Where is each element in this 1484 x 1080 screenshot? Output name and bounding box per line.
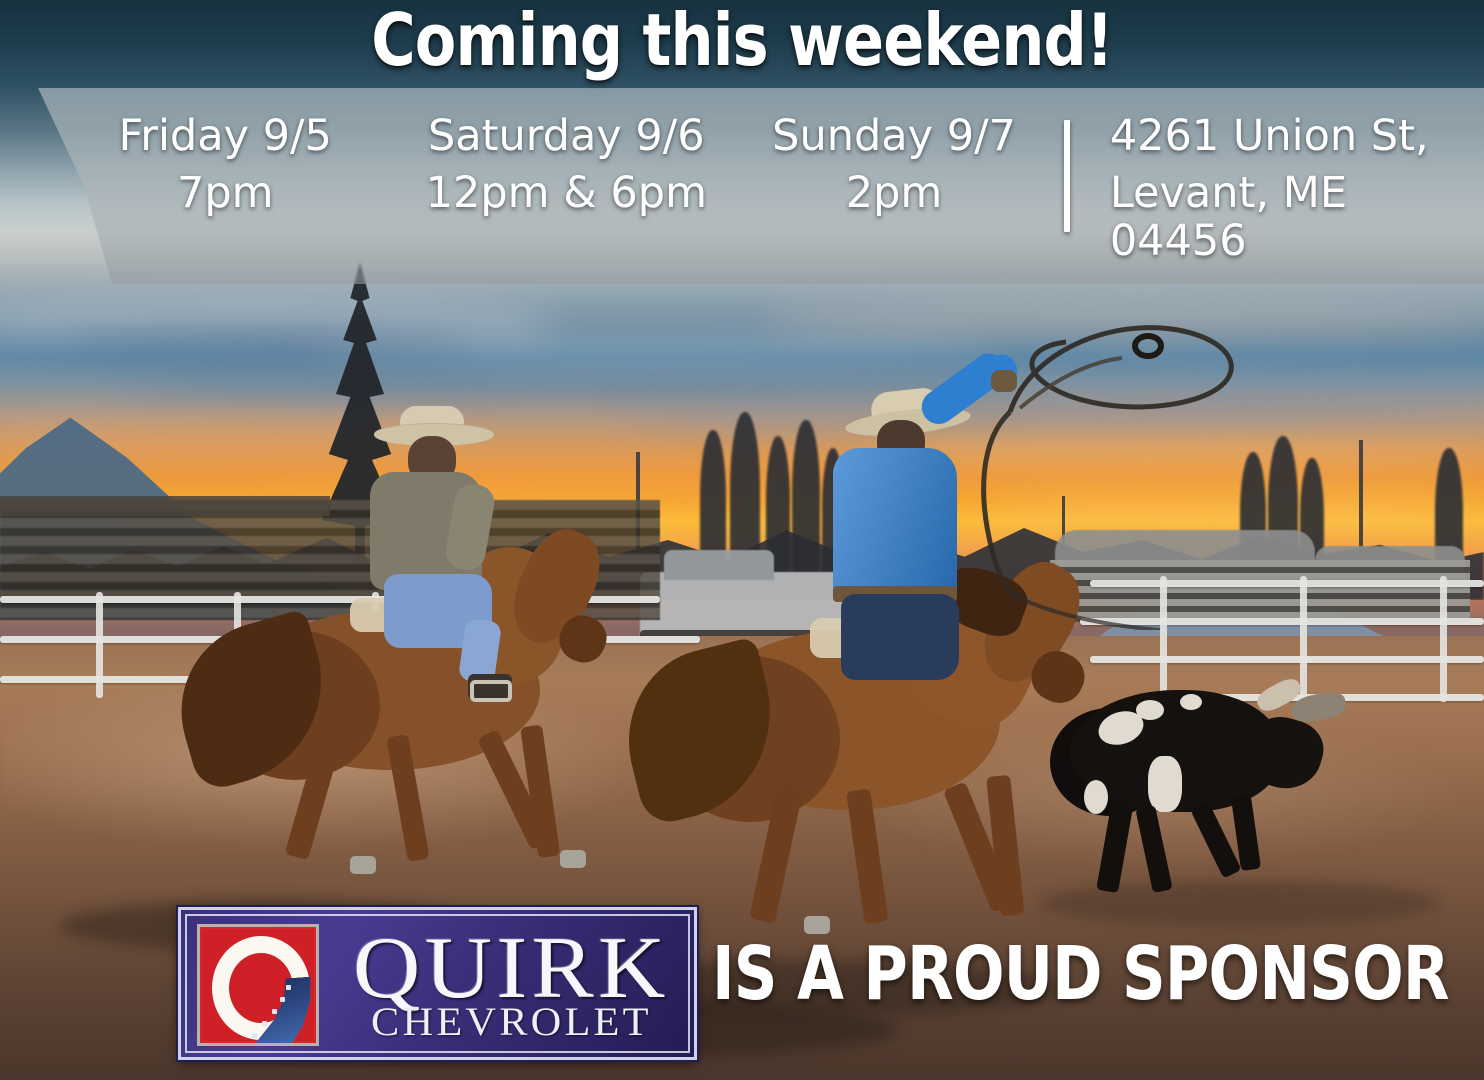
sponsor-tagline: IS A PROUD SPONSOR: [712, 931, 1449, 1017]
rider-right-roper: [815, 390, 1055, 680]
rider-shirt: [833, 448, 957, 598]
schedule-item-friday: Friday 9/5 7pm: [66, 112, 385, 217]
calf-white-patch: [1148, 756, 1182, 812]
schedule-day-label: Sunday 9/7: [754, 112, 1034, 160]
sponsor-row: QUIRK CHEVROLET IS A PROUD SPONSOR: [0, 895, 1484, 1080]
poplar-tree: [700, 430, 726, 570]
road-dash: [262, 1021, 267, 1026]
stirrup: [470, 680, 512, 702]
poplar-tree: [730, 412, 760, 572]
promo-poster: Coming this weekend! Friday 9/5 7pm Satu…: [0, 0, 1484, 1080]
arena-fence-post: [96, 592, 103, 698]
arena-fence-rail: [1090, 580, 1484, 587]
road-dash: [272, 1009, 277, 1014]
logo-brand-text: QUIRK: [353, 930, 670, 1007]
arena-fence-post: [1440, 576, 1447, 702]
horse-hoof: [350, 856, 376, 874]
schedule-time-label: 2pm: [754, 169, 1034, 217]
road-dash: [280, 997, 285, 1002]
rider-glove: [991, 370, 1017, 392]
grandstand-rail: [0, 496, 330, 516]
venue-address: 4261 Union St, Levant, ME 04456: [1110, 112, 1484, 265]
rider-left: [340, 424, 530, 654]
schedule-time-label: 7pm: [66, 169, 385, 217]
calf-white-patch: [1180, 694, 1202, 710]
calf-white-patch: [1084, 780, 1108, 814]
calf-leg: [1135, 805, 1172, 893]
rider-jeans: [841, 594, 959, 680]
roping-calf: [1040, 660, 1340, 900]
arena-fence-rail: [1080, 618, 1484, 625]
address-line-1: 4261 Union St,: [1110, 112, 1484, 160]
stock-trailer: [1050, 560, 1470, 622]
page-title: Coming this weekend!: [119, 4, 1366, 76]
quirk-chevrolet-logo[interactable]: QUIRK CHEVROLET: [178, 907, 697, 1060]
schedule-item-saturday: Saturday 9/6 12pm & 6pm: [393, 112, 741, 217]
road-dash: [286, 985, 291, 990]
schedule-day-label: Friday 9/5: [66, 112, 385, 160]
schedule-time-label: 12pm & 6pm: [393, 169, 741, 217]
schedule-item-sunday: Sunday 9/7 2pm: [754, 112, 1034, 217]
schedule-row: Friday 9/5 7pm Saturday 9/6 12pm & 6pm S…: [0, 112, 1484, 262]
vertical-divider: [1064, 120, 1070, 232]
logo-sub-text: CHEVROLET: [371, 1002, 652, 1042]
address-line-2: Levant, ME 04456: [1110, 169, 1484, 265]
calf-white-patch: [1136, 700, 1164, 720]
schedule-day-label: Saturday 9/6: [393, 112, 741, 160]
horse-hoof: [560, 850, 586, 868]
road-dash: [252, 1033, 257, 1038]
logo-wordmark: QUIRK CHEVROLET: [331, 916, 691, 1056]
quirk-q-road-icon: [197, 924, 319, 1046]
